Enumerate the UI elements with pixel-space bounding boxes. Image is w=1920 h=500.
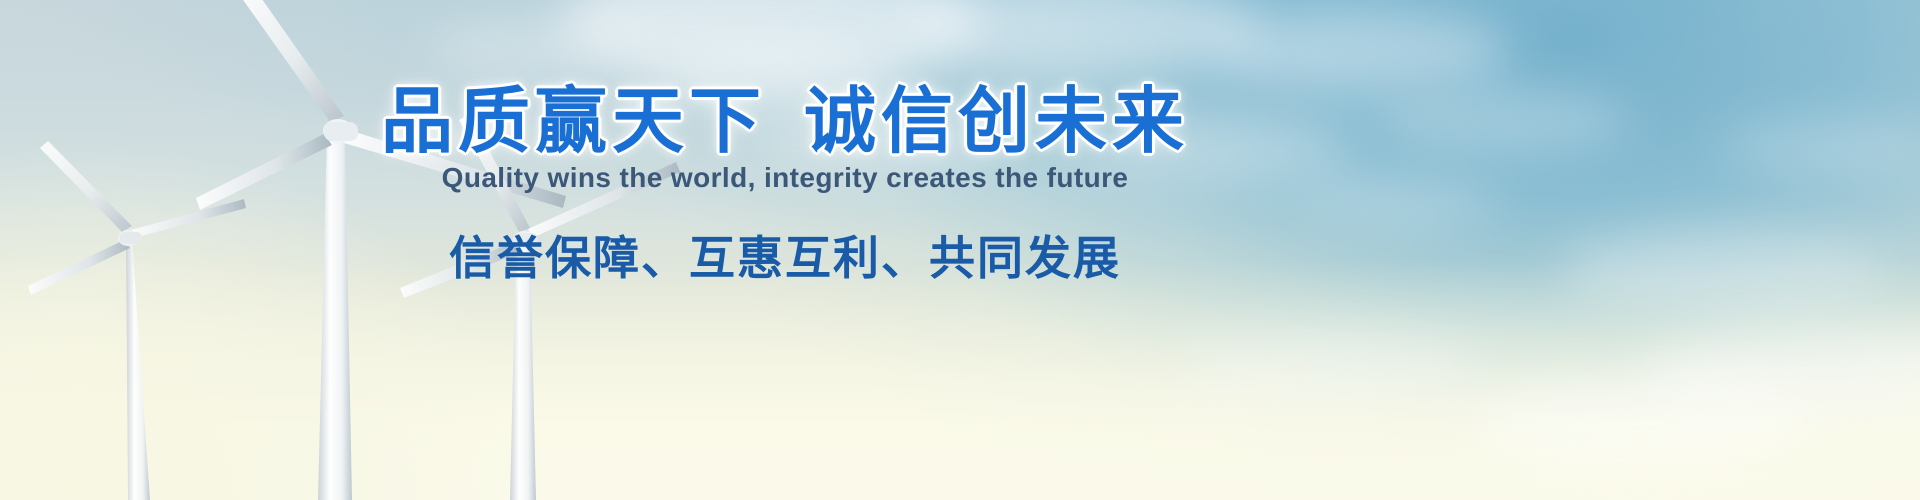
promo-banner: 品质赢天下诚信创未来 Quality wins the world, integ… (0, 0, 1920, 500)
wind-turbine-illustration (0, 0, 1920, 500)
